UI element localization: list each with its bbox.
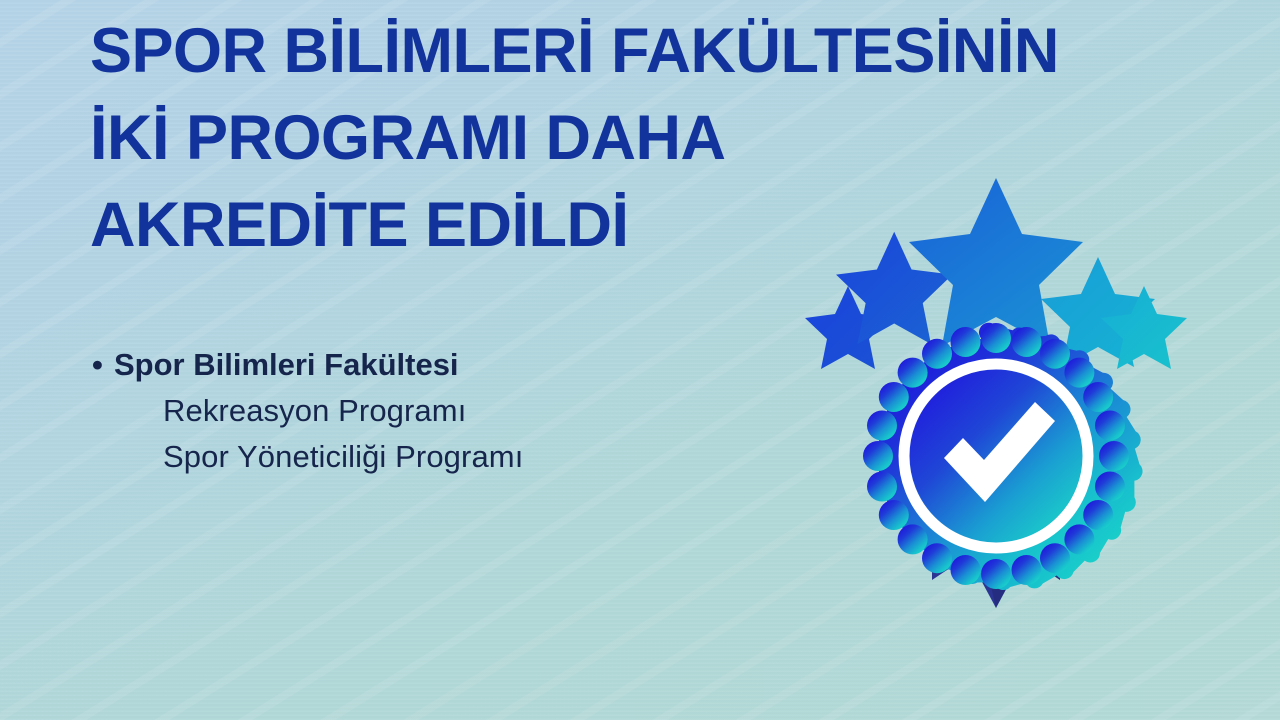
headline-line-1: SPOR BİLİMLERİ FAKÜLTESİNİN <box>90 8 1210 95</box>
program-list: • Spor Bilimleri Fakültesi Rekreasyon Pr… <box>92 342 752 480</box>
award-badge-icon <box>786 168 1206 620</box>
bullet-dot-icon: • <box>92 342 114 388</box>
poster-canvas: SPOR BİLİMLERİ FAKÜLTESİNİN İKİ PROGRAMI… <box>0 0 1280 720</box>
list-item: Spor Yöneticiliği Programı <box>163 434 752 480</box>
list-item: Rekreasyon Programı <box>163 388 752 434</box>
accreditation-award-badge <box>786 168 1206 620</box>
list-item-label: Spor Bilimleri Fakültesi <box>114 342 459 388</box>
rosette <box>863 323 1143 590</box>
list-item: • Spor Bilimleri Fakültesi <box>92 342 752 388</box>
star-icon <box>909 178 1083 346</box>
